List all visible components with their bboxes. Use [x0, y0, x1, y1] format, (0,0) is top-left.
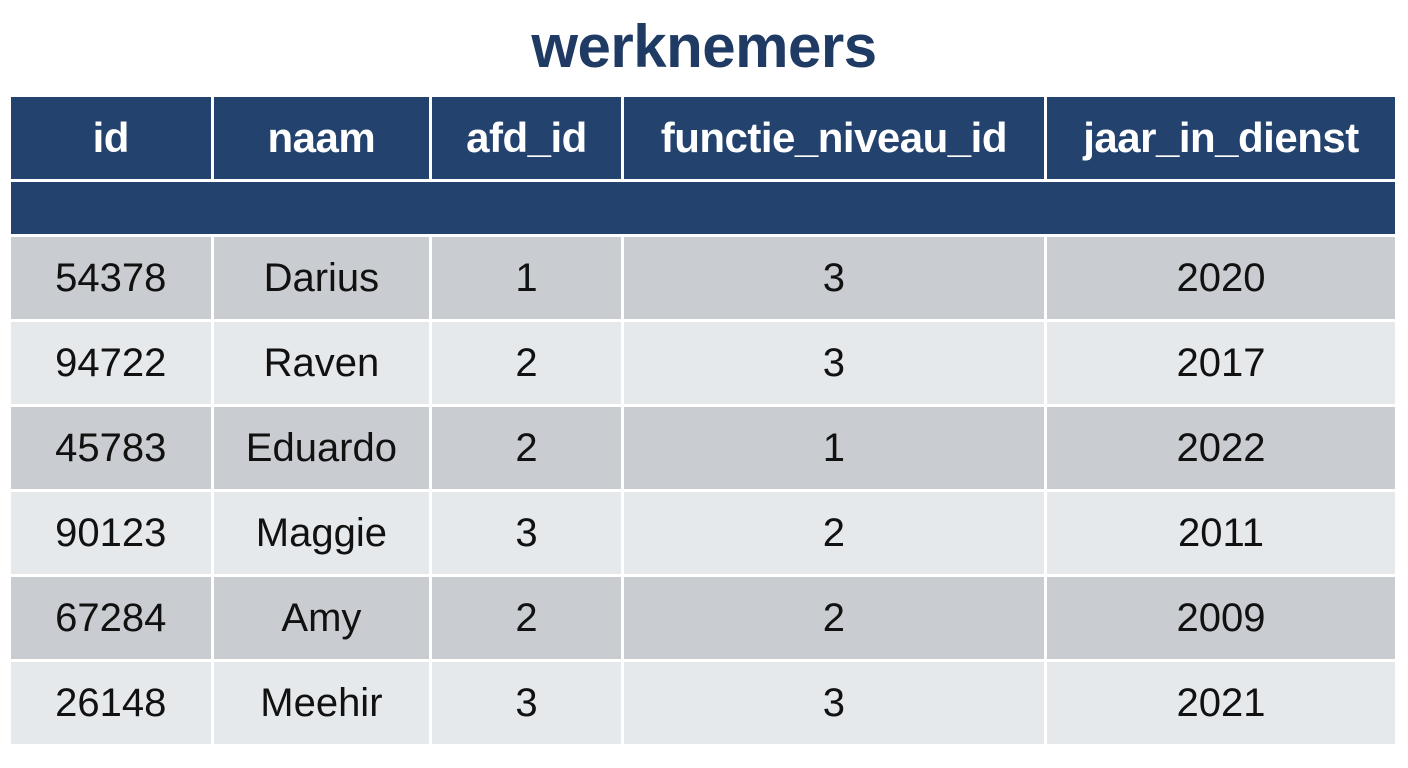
cell-functie-niveau-id: 3 — [624, 237, 1044, 319]
cell-afd-id: 3 — [432, 492, 621, 574]
cell-afd-id: 1 — [432, 237, 621, 319]
cell-id: 67284 — [11, 577, 211, 659]
cell-jaar-in-dienst: 2017 — [1047, 322, 1395, 404]
cell-functie-niveau-id: 2 — [624, 492, 1044, 574]
cell-jaar-in-dienst: 2020 — [1047, 237, 1395, 319]
cell-id: 90123 — [11, 492, 211, 574]
column-header-functie-niveau-id[interactable]: functie_niveau_id — [624, 97, 1044, 179]
cell-afd-id: 2 — [432, 322, 621, 404]
cell-id: 45783 — [11, 407, 211, 489]
cell-naam: Darius — [214, 237, 430, 319]
cell-naam: Meehir — [214, 662, 430, 744]
column-header-id[interactable]: id — [11, 97, 211, 179]
page-root: werknemers id naam afd_id functie_niveau… — [0, 0, 1408, 768]
table-row[interactable]: 45783 Eduardo 2 1 2022 — [11, 407, 1395, 489]
cell-id: 54378 — [11, 237, 211, 319]
cell-jaar-in-dienst: 2009 — [1047, 577, 1395, 659]
werknemers-table: id naam afd_id functie_niveau_id jaar_in… — [8, 94, 1398, 747]
table-container: id naam afd_id functie_niveau_id jaar_in… — [0, 94, 1408, 747]
header-row: id naam afd_id functie_niveau_id jaar_in… — [11, 97, 1395, 179]
cell-jaar-in-dienst: 2011 — [1047, 492, 1395, 574]
table-row[interactable]: 94722 Raven 2 3 2017 — [11, 322, 1395, 404]
cell-naam: Maggie — [214, 492, 430, 574]
cell-functie-niveau-id: 3 — [624, 322, 1044, 404]
table-body: 54378 Darius 1 3 2020 94722 Raven 2 3 20… — [11, 182, 1395, 744]
table-row[interactable]: 90123 Maggie 3 2 2011 — [11, 492, 1395, 574]
header-accent-band — [11, 182, 1395, 234]
cell-naam: Raven — [214, 322, 430, 404]
page-title: werknemers — [0, 0, 1408, 94]
cell-id: 94722 — [11, 322, 211, 404]
column-header-jaar-in-dienst[interactable]: jaar_in_dienst — [1047, 97, 1395, 179]
cell-functie-niveau-id: 2 — [624, 577, 1044, 659]
column-header-afd-id[interactable]: afd_id — [432, 97, 621, 179]
cell-id: 26148 — [11, 662, 211, 744]
cell-afd-id: 2 — [432, 577, 621, 659]
cell-jaar-in-dienst: 2022 — [1047, 407, 1395, 489]
cell-naam: Amy — [214, 577, 430, 659]
table-header: id naam afd_id functie_niveau_id jaar_in… — [11, 97, 1395, 179]
table-row[interactable]: 67284 Amy 2 2 2009 — [11, 577, 1395, 659]
cell-afd-id: 3 — [432, 662, 621, 744]
cell-functie-niveau-id: 3 — [624, 662, 1044, 744]
column-header-naam[interactable]: naam — [214, 97, 430, 179]
table-row[interactable]: 54378 Darius 1 3 2020 — [11, 237, 1395, 319]
accent-band-cell — [11, 182, 1395, 234]
cell-naam: Eduardo — [214, 407, 430, 489]
cell-jaar-in-dienst: 2021 — [1047, 662, 1395, 744]
cell-functie-niveau-id: 1 — [624, 407, 1044, 489]
cell-afd-id: 2 — [432, 407, 621, 489]
table-row[interactable]: 26148 Meehir 3 3 2021 — [11, 662, 1395, 744]
